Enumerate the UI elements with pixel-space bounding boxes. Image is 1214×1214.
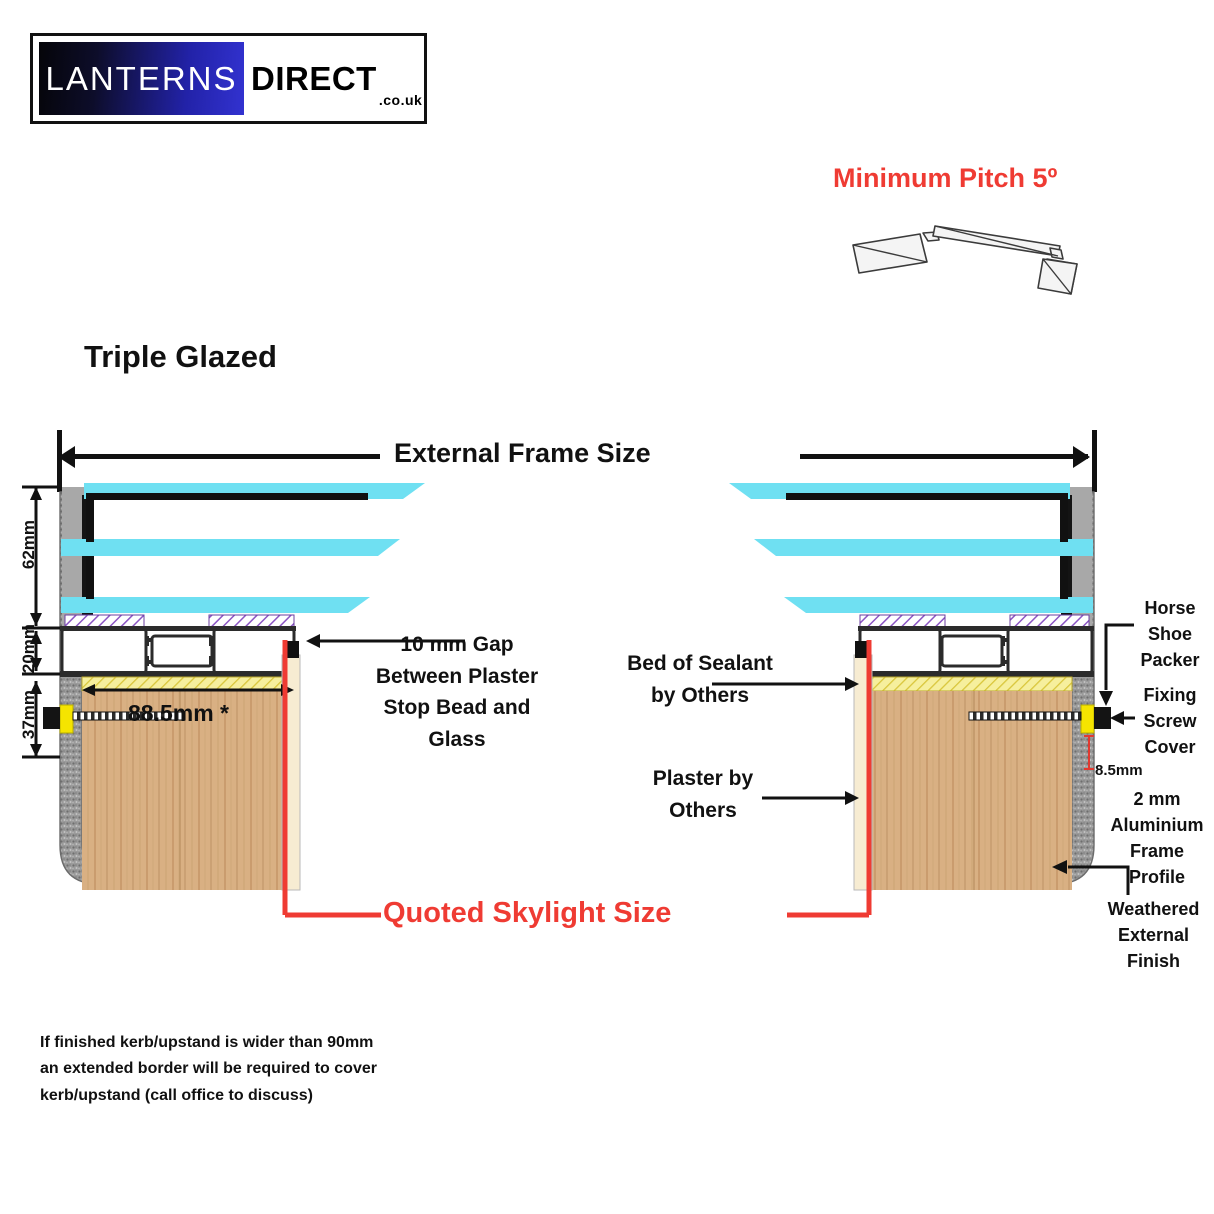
right-glass-pane-bottom [784, 597, 1093, 613]
footnote-line3: kerb/upstand (call office to discuss) [40, 1083, 470, 1109]
right-frame-bottom-face [858, 671, 1094, 677]
callout-aluminium-line1: 2 mm [1100, 786, 1214, 812]
fixing-screw-arrowhead [1110, 711, 1124, 725]
callout-weathered-line3: Finish [1093, 948, 1214, 974]
callout-fixing-screw-cover: Fixing Screw Cover [1126, 682, 1214, 760]
callout-sealant: Bed of Sealant by Others [600, 648, 800, 711]
left-frame-bottom-face [60, 671, 296, 677]
left-horse-shoe-packer [60, 705, 73, 733]
callout-weathered-line2: External [1093, 922, 1214, 948]
footnote-line2: an extended border will be required to c… [40, 1056, 470, 1082]
dimension-kerb-height: 37mm [19, 690, 39, 739]
right-timber-kerb [872, 691, 1072, 890]
callout-aluminium-line2: Aluminium [1100, 812, 1214, 838]
right-spacer-v2 [1060, 556, 1068, 599]
footnote-line1: If finished kerb/upstand is wider than 9… [40, 1030, 470, 1056]
dimension-frame-height: 20mm [19, 624, 39, 673]
callout-plaster-line2: Others [618, 795, 788, 827]
callout-gap-line1: 10 mm Gap [367, 629, 547, 661]
left-spacer-v1 [86, 499, 94, 542]
right-fixing-screw-cover [1094, 707, 1111, 729]
horseshoe-arrowhead [1099, 691, 1113, 706]
callout-plaster: Plaster by Others [618, 763, 788, 826]
callout-horseshoe-line1: Horse [1126, 595, 1214, 621]
right-sealant-bed [861, 677, 1072, 691]
callout-weathered-line1: Weathered [1093, 896, 1214, 922]
right-frame-top-face [858, 626, 1094, 631]
dimension-glass-height: 62mm [19, 520, 39, 569]
left-frame-profile [62, 629, 294, 673]
left-frame-top-face [60, 626, 296, 631]
right-fixing-screw [969, 712, 1081, 720]
right-spacer-top [786, 493, 1068, 500]
left-spacer-v2 [86, 556, 94, 599]
callout-gap: 10 mm Gap Between Plaster Stop Bead and … [367, 629, 547, 755]
callout-aluminium-line3: Frame Profile [1100, 838, 1214, 890]
callout-horseshoe-line2: Shoe [1126, 621, 1214, 647]
right-frame-profile [860, 629, 1092, 673]
callout-aluminium-profile: 2 mm Aluminium Frame Profile [1100, 786, 1214, 890]
left-spacer-top [86, 493, 368, 500]
dimension-kerb-width: 88.5mm * [128, 700, 229, 727]
right-horse-shoe-packer [1081, 705, 1094, 733]
right-spacer-v1 [1060, 499, 1068, 542]
callout-sealant-line2: by Others [600, 680, 800, 712]
callout-fixing-line1: Fixing [1126, 682, 1214, 708]
footnote-note: If finished kerb/upstand is wider than 9… [40, 1030, 470, 1109]
right-glass-pane-mid [754, 539, 1093, 556]
quoted-skylight-size-label: Quoted Skylight Size [383, 897, 671, 930]
callout-gap-line3: Stop Bead and [367, 692, 547, 724]
callout-fixing-line2: Screw [1126, 708, 1214, 734]
callout-horseshoe-line3: Packer [1126, 647, 1214, 673]
dimension-profile-offset: 8.5mm [1095, 762, 1143, 779]
callout-weathered-finish: Weathered External Finish [1093, 896, 1214, 974]
left-glass-pane-bottom [61, 597, 370, 613]
callout-horse-shoe-packer: Horse Shoe Packer [1126, 595, 1214, 673]
callout-plaster-line1: Plaster by [618, 763, 788, 795]
left-fixing-screw-cover [43, 707, 60, 729]
callout-gap-line2: Between Plaster [367, 661, 547, 693]
callout-fixing-line3: Cover [1126, 734, 1214, 760]
callout-sealant-line1: Bed of Sealant [600, 648, 800, 680]
callout-gap-line4: Glass [367, 724, 547, 756]
left-glass-pane-mid [61, 539, 400, 556]
gap-arrowhead [306, 634, 320, 648]
